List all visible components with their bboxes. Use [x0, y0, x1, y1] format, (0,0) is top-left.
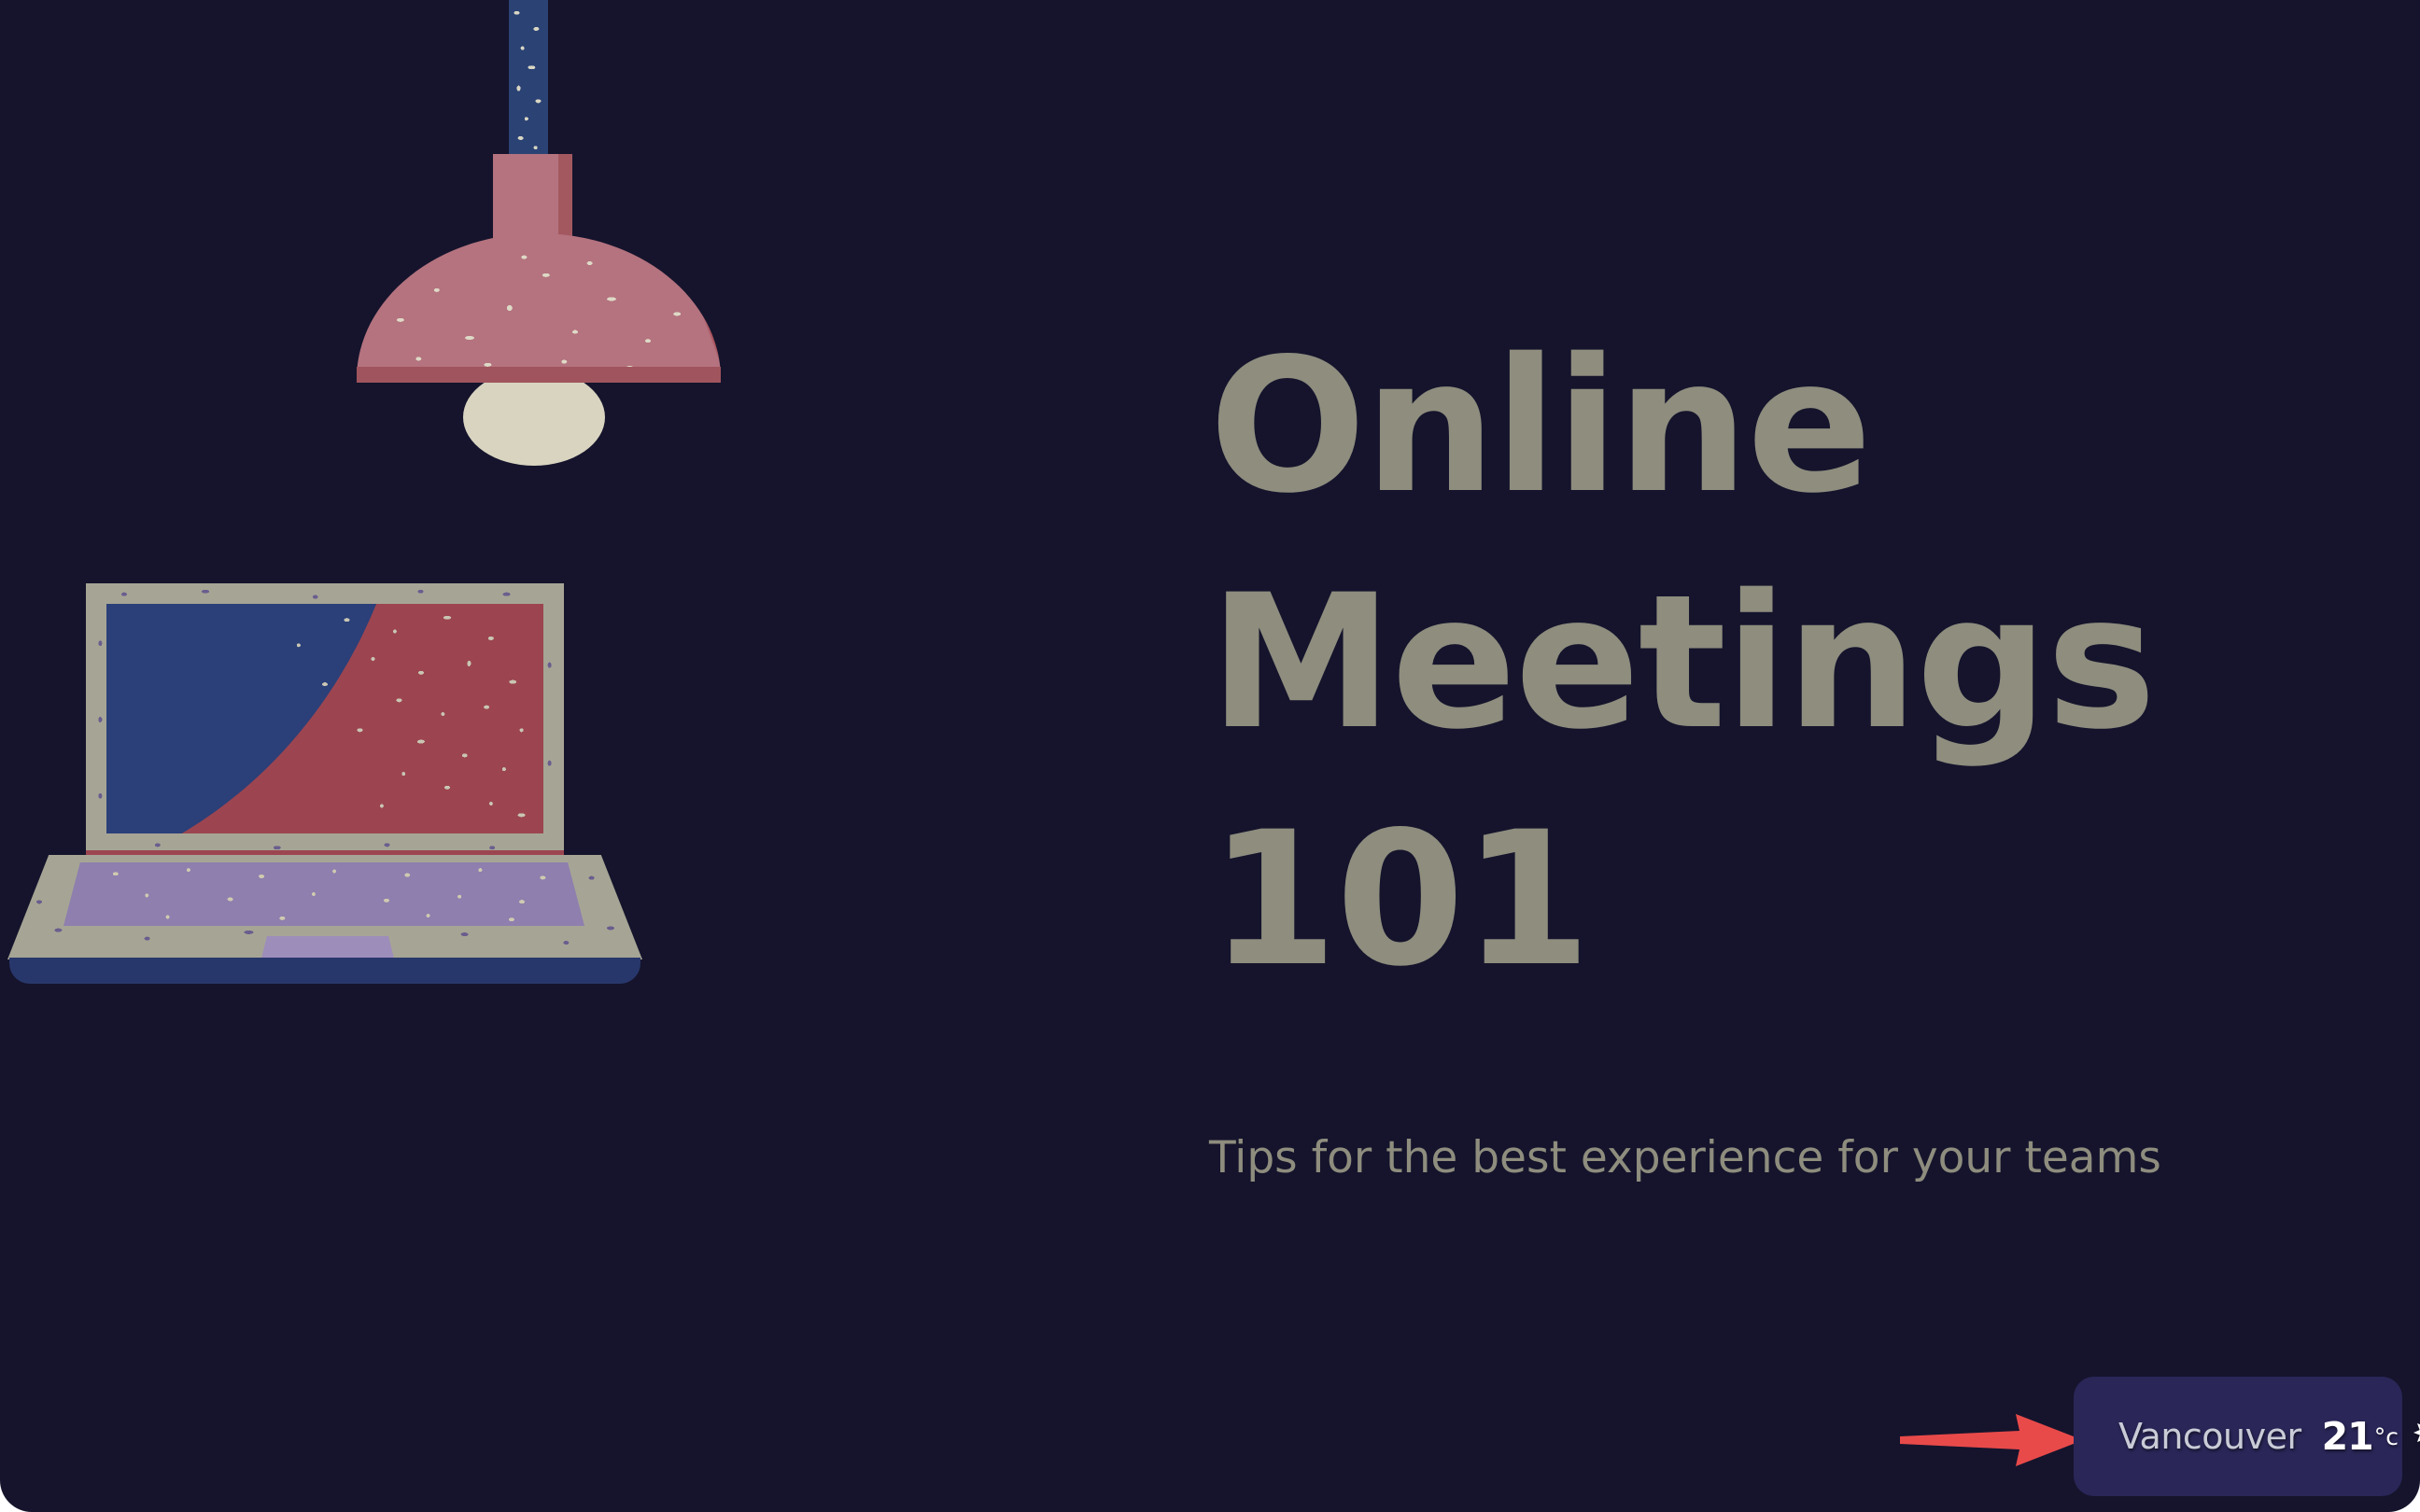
sun-behind-cloud-icon [2412, 1418, 2420, 1455]
lamp-bulb [463, 369, 605, 466]
laptop-base-foot [9, 958, 640, 984]
lamp-cord [509, 0, 548, 161]
page-title: Online Meetings 101 [1209, 308, 2357, 1017]
laptop-keyboard [63, 862, 584, 926]
laptop-lid [86, 583, 564, 856]
laptop-screen [106, 604, 543, 833]
presentation-slide: Online Meetings 101 Tips for the best ex… [0, 0, 2420, 1512]
laptop-screen-texture [106, 604, 543, 833]
laptop-keyboard-texture [63, 862, 584, 926]
annotation-arrow-icon [1900, 1411, 2087, 1469]
weather-city-label: Vancouver [2118, 1416, 2301, 1457]
weather-temperature-value: 21 [2322, 1414, 2373, 1459]
weather-temperature-unit: °c [2374, 1423, 2399, 1450]
lamp-shade-lip [357, 367, 721, 383]
pendant-lamp-illustration [327, 0, 728, 476]
lamp-shade-edge-shadow [357, 233, 721, 383]
page-subtitle: Tips for the best experience for your te… [1209, 1132, 2385, 1183]
laptop-illustration [0, 583, 654, 784]
weather-widget[interactable]: Vancouver 21 °c [2074, 1377, 2402, 1496]
